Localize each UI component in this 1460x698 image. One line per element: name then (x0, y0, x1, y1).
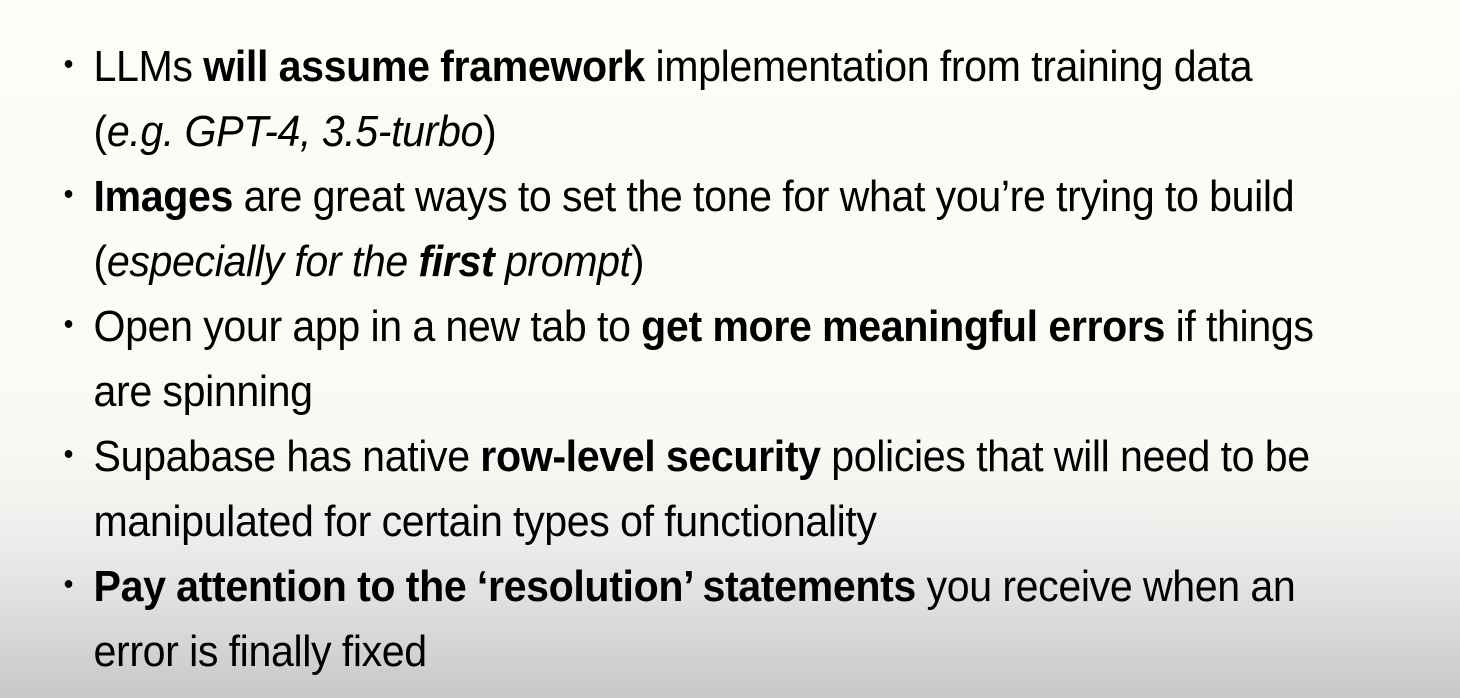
text-run-normal: Open your app in a new tab to (94, 302, 642, 351)
text-run-normal: LLMs (94, 42, 204, 91)
bullet-point-icon: • (64, 164, 83, 229)
bullet-item-llm-framework-assumption: •LLMs will assume framework implementati… (0, 34, 1365, 164)
bullet-item-supabase-row-level-security: •Supabase has native row-level security … (0, 424, 1365, 554)
text-run-italic: e.g. GPT-4, 3.5-turbo (107, 107, 483, 156)
text-run-bold: will assume framework (203, 42, 645, 91)
bullet-item-open-app-new-tab: •Open your app in a new tab to get more … (0, 294, 1365, 424)
text-run-bold-italic: first (418, 237, 494, 286)
bullet-text: Pay attention to the ‘resolution’ statem… (94, 554, 1343, 684)
bullet-point-icon: • (64, 294, 83, 359)
bullet-item-images-set-tone: •Images are great ways to set the tone f… (0, 164, 1365, 294)
text-run-normal: ) (631, 237, 644, 286)
text-run-normal: ) (483, 107, 496, 156)
bullet-point-icon: • (64, 554, 83, 619)
text-run-bold: Pay attention to the ‘resolution’ statem… (94, 562, 916, 611)
text-run-bold: row-level security (480, 432, 820, 481)
text-run-bold: Images (94, 172, 234, 221)
bullet-text: Images are great ways to set the tone fo… (94, 164, 1343, 294)
bullet-text: LLMs will assume framework implementatio… (94, 34, 1343, 164)
bullet-point-icon: • (64, 424, 83, 489)
slide-canvas: •LLMs will assume framework implementati… (0, 0, 1460, 698)
text-run-normal: Supabase has native (94, 432, 481, 481)
text-run-bold: get more meaningful errors (641, 302, 1165, 351)
text-run-italic: prompt (494, 237, 630, 286)
bullet-text: Open your app in a new tab to get more m… (94, 294, 1343, 424)
bullet-point-icon: • (64, 34, 83, 99)
text-run-italic: especially for the (107, 237, 419, 286)
bullet-item-resolution-statements: •Pay attention to the ‘resolution’ state… (0, 554, 1365, 684)
bullet-text: Supabase has native row-level security p… (94, 424, 1343, 554)
bullet-list: •LLMs will assume framework implementati… (0, 34, 1460, 684)
